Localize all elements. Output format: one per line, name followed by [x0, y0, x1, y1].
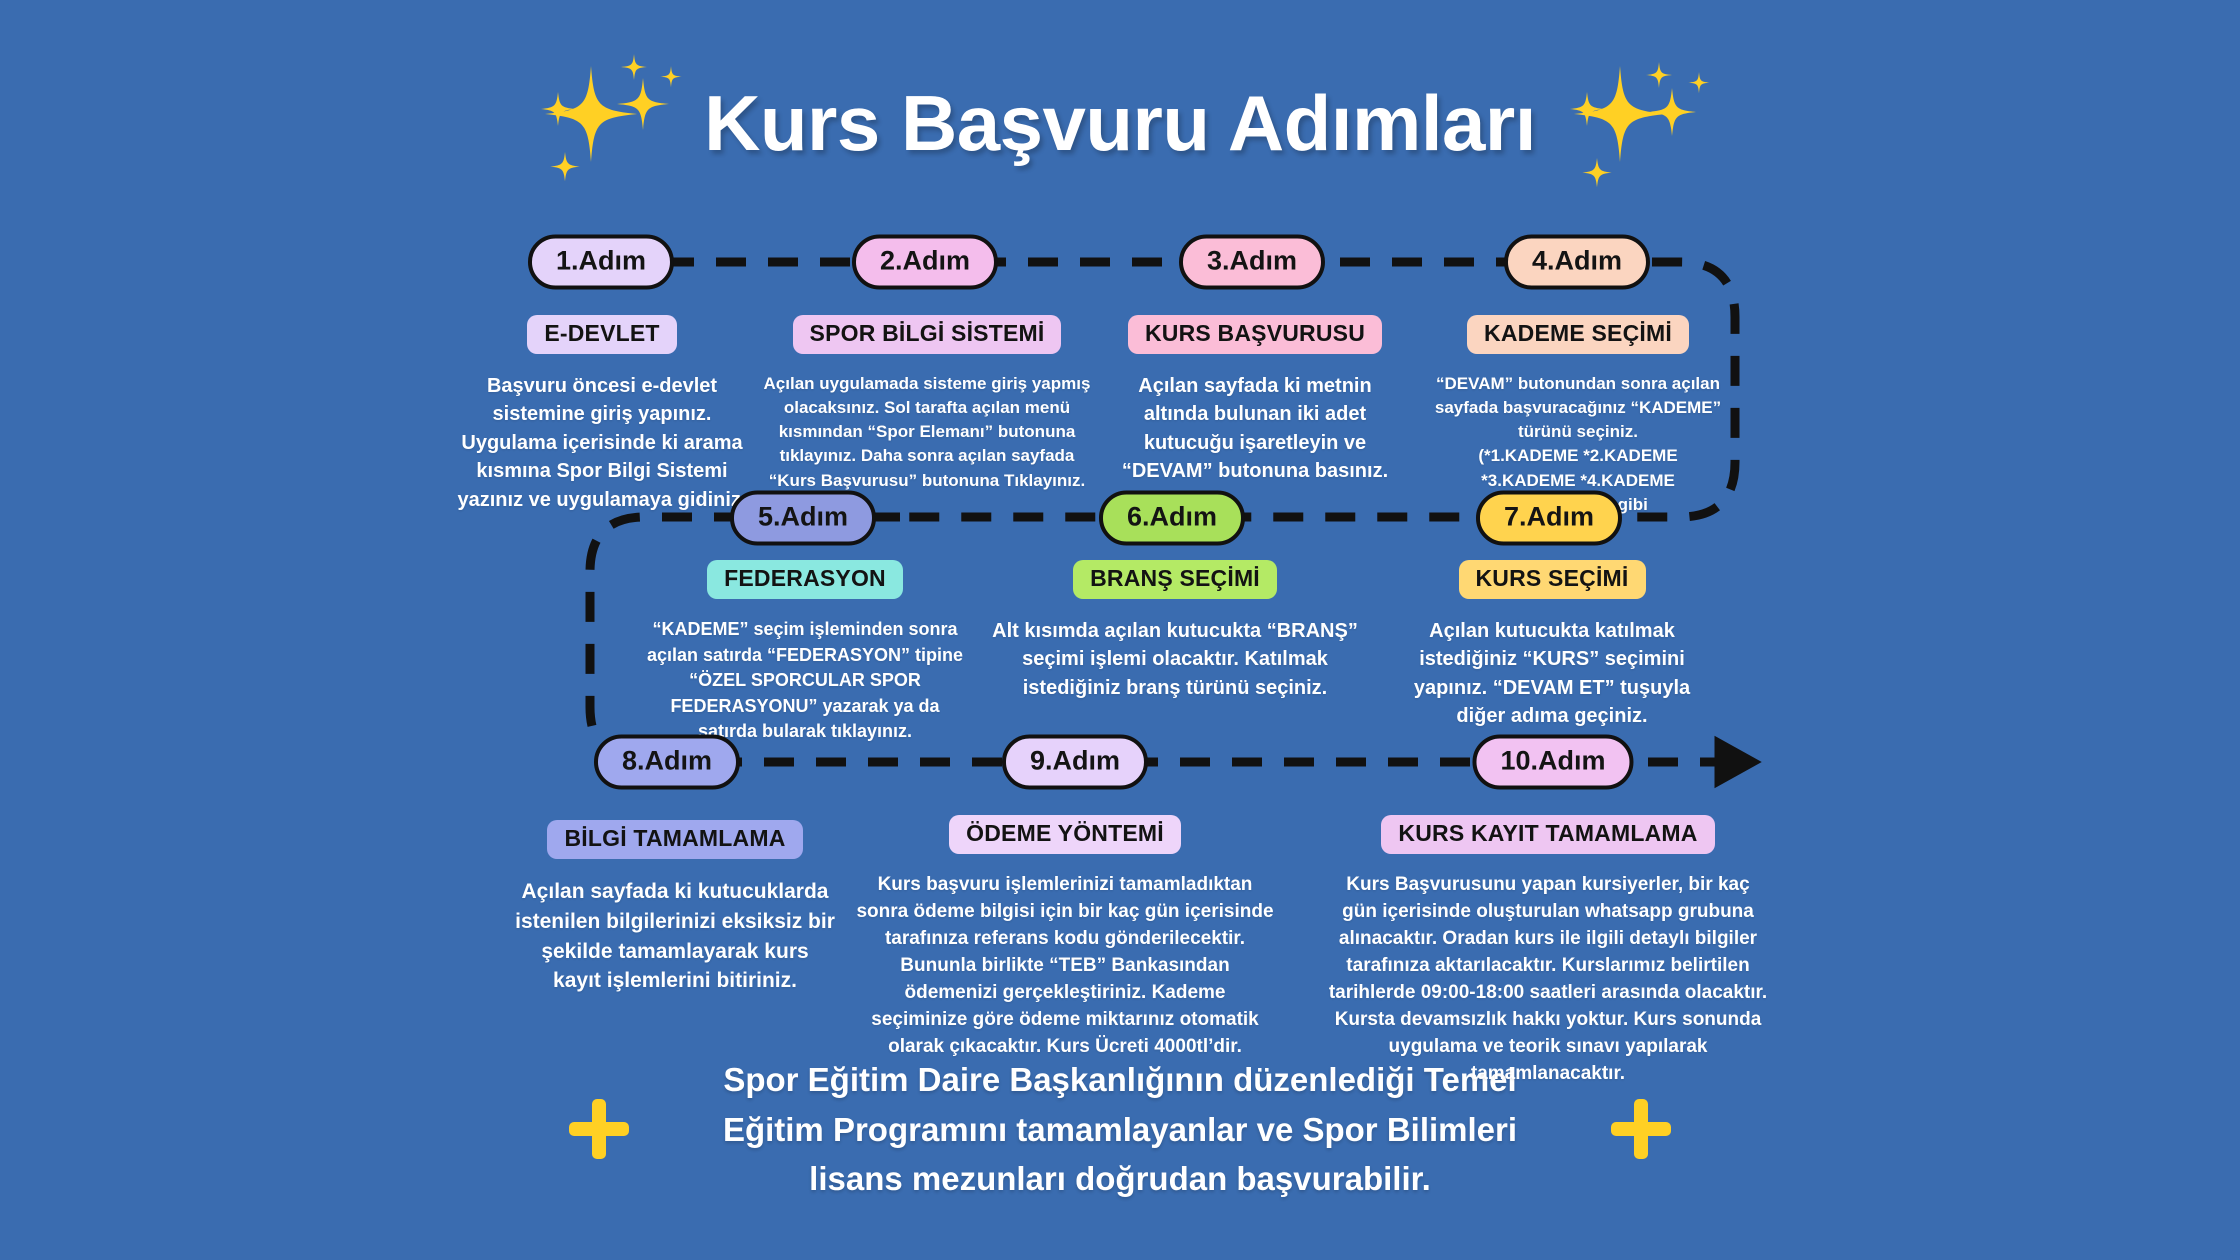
step-badge-3[interactable]: 3.Adım [1179, 235, 1325, 290]
step-label-1: E-DEVLET [527, 315, 676, 354]
step-desc-8: Açılan sayfada ki kutucuklarda istenilen… [515, 877, 835, 996]
infographic-canvas: Kurs Başvuru Adımları 1.Adım 2.Adım 3.Ad… [0, 0, 2240, 1260]
step-desc-6: Alt kısımda açılan kutucukta “BRANŞ” seç… [990, 617, 1360, 702]
step-content-9: ÖDEME YÖNTEMİ Kurs başvuru işlemlerinizi… [850, 815, 1280, 1061]
page-title: Kurs Başvuru Adımları [704, 78, 1536, 169]
step-label-3: KURS BAŞVURUSU [1128, 315, 1382, 354]
step-content-10: KURS KAYIT TAMAMLAMA Kurs Başvurusunu ya… [1323, 815, 1773, 1088]
step-badge-6[interactable]: 6.Adım [1099, 491, 1245, 546]
step-desc-5: “KADEME” seçim işleminden sonra açılan s… [645, 617, 965, 745]
step-label-9: ÖDEME YÖNTEMİ [949, 815, 1181, 854]
step-desc-1: Başvuru öncesi e-devlet sistemine giriş … [457, 372, 747, 514]
step-badge-4[interactable]: 4.Adım [1504, 235, 1650, 290]
step-badge-7[interactable]: 7.Adım [1476, 491, 1622, 546]
title-bar: Kurs Başvuru Adımları [0, 48, 2240, 198]
step-content-7: KURS SEÇİMİ Açılan kutucukta katılmak is… [1382, 560, 1722, 731]
step-content-1: E-DEVLET Başvuru öncesi e-devlet sistemi… [452, 315, 752, 514]
step-desc-7: Açılan kutucukta katılmak istediğiniz “K… [1387, 617, 1717, 731]
step-badge-10[interactable]: 10.Adım [1472, 735, 1633, 790]
step-desc-3: Açılan sayfada ki metnin altında bulunan… [1105, 372, 1405, 486]
step-content-6: BRANŞ SEÇİMİ Alt kısımda açılan kutucukt… [985, 560, 1365, 702]
step-badge-8[interactable]: 8.Adım [594, 735, 740, 790]
step-badge-5[interactable]: 5.Adım [730, 491, 876, 546]
sparkle-icon [523, 48, 698, 198]
step-desc-9: Kurs başvuru işlemlerinizi tamamladıktan… [855, 872, 1275, 1061]
step-content-5: FEDERASYON “KADEME” seçim işleminden son… [640, 560, 970, 745]
sparkle-icon [1542, 48, 1717, 198]
step-content-4: KADEME SEÇİMİ “DEVAM” butonundan sonra a… [1428, 315, 1728, 517]
step-label-7: KURS SEÇİMİ [1459, 560, 1646, 599]
step-content-3: KURS BAŞVURUSU Açılan sayfada ki metnin … [1100, 315, 1410, 486]
step-desc-10: Kurs Başvurusunu yapan kursiyerler, bir … [1328, 872, 1768, 1088]
plus-icon [1608, 1096, 1674, 1162]
step-label-5: FEDERASYON [707, 560, 903, 599]
step-badge-2[interactable]: 2.Adım [852, 235, 998, 290]
step-desc-2: Açılan uygulamada sisteme giriş yapmış o… [762, 372, 1092, 493]
step-badge-9[interactable]: 9.Adım [1002, 735, 1148, 790]
step-label-8: BİLGİ TAMAMLAMA [547, 820, 802, 859]
step-label-2: SPOR BİLGİ SİSTEMİ [793, 315, 1062, 354]
step-label-4: KADEME SEÇİMİ [1467, 315, 1689, 354]
step-label-10: KURS KAYIT TAMAMLAMA [1381, 815, 1714, 854]
step-label-6: BRANŞ SEÇİMİ [1073, 560, 1277, 599]
footer-note: Spor Eğitim Daire Başkanlığının düzenled… [0, 1055, 2240, 1204]
step-badge-1[interactable]: 1.Adım [528, 235, 674, 290]
step-content-8: BİLGİ TAMAMLAMA Açılan sayfada ki kutucu… [510, 820, 840, 996]
plus-icon [566, 1096, 632, 1162]
step-content-2: SPOR BİLGİ SİSTEMİ Açılan uygulamada sis… [757, 315, 1097, 493]
